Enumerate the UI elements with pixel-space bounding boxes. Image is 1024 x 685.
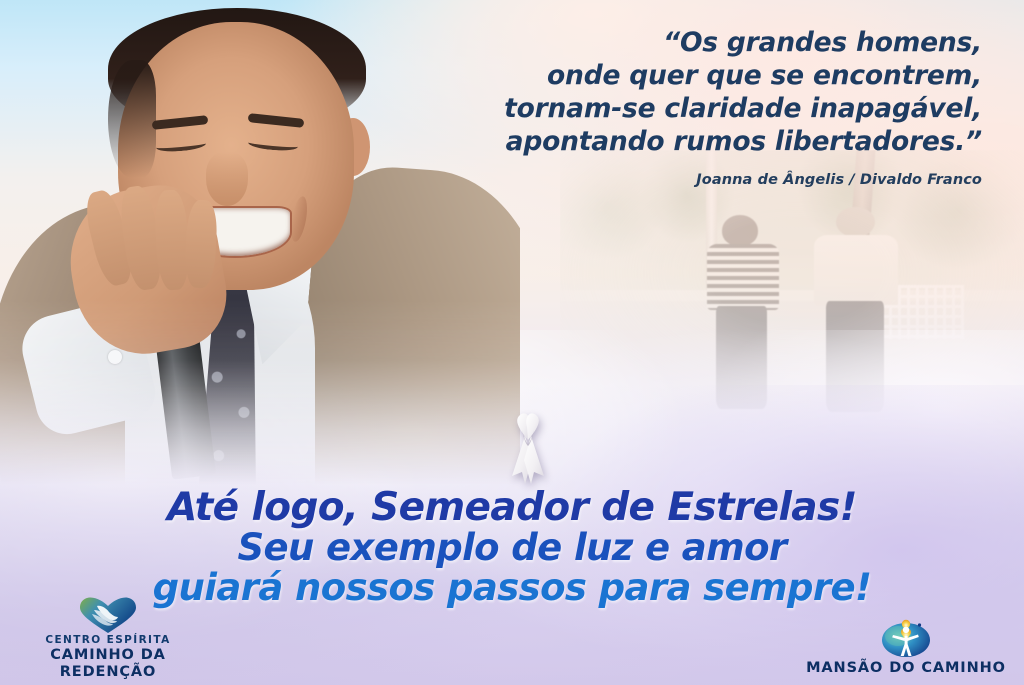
logo-mansao-do-caminho[interactable]: MANSÃO DO CAMINHO <box>796 614 1016 677</box>
quote-block: “Os grandes homens, onde quer que se enc… <box>422 26 982 188</box>
logo-centro-espirita-caminho-da-redencao[interactable]: CENTRO ESPÍRITA CAMINHO DA REDENÇÃO <box>8 596 208 681</box>
quote-line-2: onde quer que se encontrem, <box>422 59 982 92</box>
headline-line-1: Até logo, Semeador de Estrelas! <box>0 487 1024 528</box>
quote-line-1: “Os grandes homens, <box>422 26 982 59</box>
headline-line-2: Seu exemplo de luz e amor <box>0 528 1024 568</box>
white-mourning-ribbon-icon <box>492 410 564 488</box>
left-logo-line-2: CAMINHO DA REDENÇÃO <box>8 647 208 681</box>
portrait-cuff-button <box>108 350 122 364</box>
heart-hands-icon <box>77 596 139 634</box>
quote-line-3: tornam-se claridade inapagável, <box>422 92 982 125</box>
right-logo-line-1: MANSÃO DO CAMINHO <box>796 660 1016 677</box>
portrait-nose <box>206 152 248 206</box>
globe-figure-flame-icon <box>878 614 934 658</box>
portrait-hair-sideburn <box>108 60 156 178</box>
poster-canvas: “Os grandes homens, onde quer que se enc… <box>0 0 1024 685</box>
quote-line-4: apontando rumos libertadores.” <box>422 125 982 158</box>
left-logo-line-1: CENTRO ESPÍRITA <box>8 634 208 647</box>
headline-block: Até logo, Semeador de Estrelas! Seu exem… <box>0 487 1024 608</box>
quote-author: Joanna de Ângelis / Divaldo Franco <box>422 172 982 188</box>
